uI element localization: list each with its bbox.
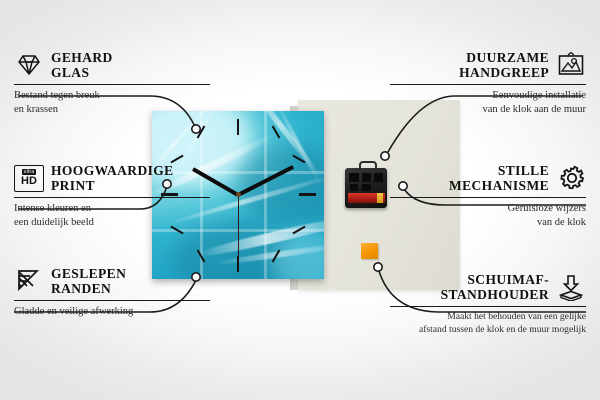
- feature-duurzame-handgreep: DUURZAMEHANDGREEP Eenvoudige installatie…: [390, 50, 586, 116]
- feature-header: GESLEPENRANDEN: [14, 266, 210, 297]
- feature-divider: [390, 84, 586, 86]
- feature-schuimafstandhouder: SCHUIMAF-STANDHOUDER Maakt het behouden …: [390, 272, 586, 336]
- feature-description: Gladde en veilige afwerking: [14, 305, 210, 318]
- picture-frame-icon: [556, 51, 586, 79]
- clock-mechanism: [345, 168, 387, 208]
- feature-divider: [14, 300, 210, 302]
- infographic-canvas: GEHARDGLAS Bestand tegen breuken krassen…: [0, 0, 600, 400]
- ultra-hd-icon: ultra HD: [14, 164, 44, 192]
- feature-header: ultra HD HOOGWAARDIGEPRINT: [14, 163, 210, 194]
- mechanism-slot: [362, 184, 371, 191]
- mechanism-hook: [359, 161, 377, 171]
- hour-marker-3: [299, 193, 316, 196]
- glass-seam: [264, 111, 267, 279]
- feature-description: Eenvoudige installatievan de klok aan de…: [390, 89, 586, 116]
- feature-title: GEHARDGLAS: [51, 50, 113, 81]
- feature-description: Bestand tegen breuken krassen: [14, 89, 210, 116]
- feature-divider: [14, 84, 210, 86]
- beveled-edges-icon: [14, 267, 44, 295]
- diamond-icon: [14, 51, 44, 79]
- feature-title: SCHUIMAF-STANDHOUDER: [441, 272, 549, 303]
- feature-header: DUURZAMEHANDGREEP: [390, 50, 586, 81]
- feature-header: STILLEMECHANISME: [390, 163, 586, 194]
- feature-hoogwaardige-print: ultra HD HOOGWAARDIGEPRINT Intense kleur…: [14, 163, 210, 229]
- hour-marker-12: [237, 119, 239, 135]
- feature-geslepen-randen: GESLEPENRANDEN Gladde en veilige afwerki…: [14, 266, 210, 319]
- mechanism-slot: [350, 184, 358, 191]
- mechanism-slot: [362, 173, 371, 182]
- clock-hub: [236, 192, 241, 197]
- second-hand: [238, 194, 239, 256]
- mechanism-slot: [349, 173, 359, 182]
- feature-header: SCHUIMAF-STANDHOUDER: [390, 272, 586, 303]
- mechanism-slot: [374, 173, 383, 182]
- hour-marker-6: [237, 256, 239, 272]
- foam-spacer-pad: [361, 243, 378, 259]
- feature-stille-mechanisme: STILLEMECHANISME Geruisloze wijzersvan d…: [390, 163, 586, 229]
- feature-header: GEHARDGLAS: [14, 50, 210, 81]
- feature-gehard-glas: GEHARDGLAS Bestand tegen breuken krassen: [14, 50, 210, 116]
- feature-description: Geruisloze wijzersvan de klok: [390, 202, 586, 229]
- feature-title: HOOGWAARDIGEPRINT: [51, 163, 174, 194]
- feature-title: STILLEMECHANISME: [449, 163, 549, 194]
- battery-terminal: [377, 193, 383, 203]
- feature-divider: [390, 197, 586, 199]
- feature-description: Intense kleuren eneen duidelijk beeld: [14, 202, 210, 229]
- gear-icon: [556, 164, 586, 192]
- press-pad-icon: [556, 273, 586, 301]
- feature-divider: [14, 197, 210, 199]
- feature-title: DUURZAMEHANDGREEP: [459, 50, 549, 81]
- feature-divider: [390, 306, 586, 308]
- feature-description: Maakt het behouden van een gelijkeafstan…: [390, 311, 586, 336]
- feature-title: GESLEPENRANDEN: [51, 266, 126, 297]
